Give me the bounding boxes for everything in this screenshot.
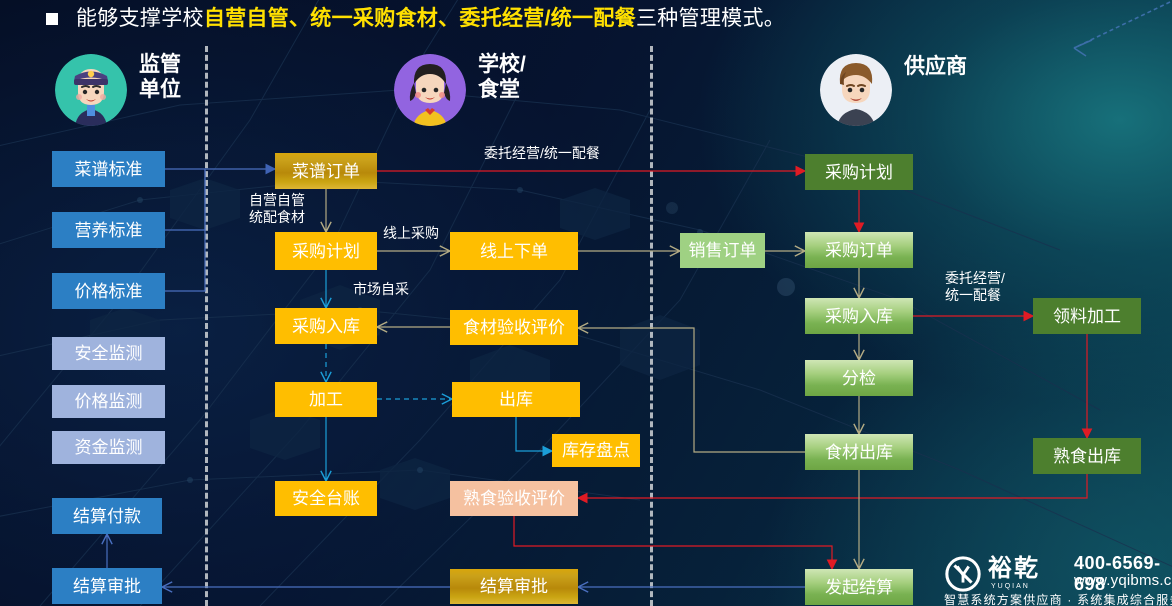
edge-label-xianshang-text: 线上采购: [383, 225, 439, 241]
node-shicai-yanshou[interactable]: 食材验收评价: [450, 310, 578, 345]
node-jiage-biaozhun[interactable]: 价格标准: [52, 273, 165, 309]
header-highlight: 自营自管、统一采购食材、委托经营/统一配餐: [204, 7, 636, 30]
logo-website: www.yqibms.com: [1074, 572, 1172, 590]
header-prefix: 能够支撑学校: [76, 7, 204, 30]
slide-canvas: 能够支撑学校自营自管、统一采购食材、委托经营/统一配餐三种管理模式。 监管: [0, 0, 1172, 606]
actor-supplier-line1: 供应商: [904, 54, 967, 79]
node-lingliao-jiagong[interactable]: 领料加工: [1033, 298, 1141, 334]
edge-label-ziying-line2: 统配食材: [249, 209, 305, 226]
node-caipu-biaozhun[interactable]: 菜谱标准: [52, 151, 165, 187]
edge-label-weituo-top: 委托经营/统一配餐: [484, 145, 600, 162]
node-anquan-taizhang[interactable]: 安全台账: [275, 481, 377, 516]
node-fenjian[interactable]: 分检: [805, 360, 913, 396]
node-caigou-dingdan[interactable]: 采购订单: [805, 232, 913, 268]
node-jiesuan-shenpi-l[interactable]: 结算审批: [52, 568, 162, 604]
node-xiaoshou-dingdan[interactable]: 销售订单: [680, 233, 765, 268]
actor-school-label: 学校/ 食堂: [478, 52, 526, 102]
edge-label-ziying-line1: 自营自管: [249, 192, 305, 209]
actor-supplier-label: 供应商: [904, 54, 967, 79]
square-bullet-icon: [46, 13, 58, 25]
logo-cn-name: 裕乾: [988, 555, 1040, 583]
node-shushi-chuku[interactable]: 熟食出库: [1033, 438, 1141, 474]
header-sentence: 能够支撑学校自营自管、统一采购食材、委托经营/统一配餐三种管理模式。: [76, 4, 785, 34]
logo-tagline: 智慧系统方案供应商 · 系统集成综合服务商: [944, 591, 1172, 606]
actor-regulator-line2: 单位: [139, 77, 181, 102]
edge-label-weituo-right-line1: 委托经营/: [945, 270, 1005, 287]
schoolgirl-avatar: [394, 54, 466, 126]
node-jiagong[interactable]: 加工: [275, 382, 377, 417]
supplier-avatar: [820, 54, 892, 126]
lane-divider-regulator-school: [205, 46, 208, 606]
node-caigou-ruku-r[interactable]: 采购入库: [805, 298, 913, 334]
node-shicai-chuku[interactable]: 食材出库: [805, 434, 913, 470]
node-kucun-pandian[interactable]: 库存盘点: [552, 434, 640, 467]
node-anquan-jiance[interactable]: 安全监测: [52, 337, 165, 370]
edge-label-weituo-top-text: 委托经营/统一配餐: [484, 145, 600, 161]
node-jiesuan-shenpi-m[interactable]: 结算审批: [450, 569, 578, 604]
slide-header: 能够支撑学校自营自管、统一采购食材、委托经营/统一配餐三种管理模式。: [0, 0, 1172, 40]
actor-regulator-line1: 监管: [139, 52, 181, 77]
edge-label-shichang-text: 市场自采: [353, 281, 409, 297]
actor-school-line1: 学校/: [478, 52, 526, 77]
node-caigou-ruku-m[interactable]: 采购入库: [275, 308, 377, 344]
actor-regulator-label: 监管 单位: [139, 52, 181, 102]
node-faqi-jiesuan[interactable]: 发起结算: [805, 569, 913, 605]
lane-divider-school-supplier: [650, 46, 653, 606]
node-caipu-dingdan[interactable]: 菜谱订单: [275, 153, 377, 189]
edge-label-xianshang: 线上采购: [383, 225, 439, 242]
edge-label-weituo-right-line2: 统一配餐: [945, 287, 1005, 304]
node-caigou-jihua-r[interactable]: 采购计划: [805, 154, 913, 190]
node-yingyang-biaozhun[interactable]: 营养标准: [52, 212, 165, 248]
yuqian-logo-mark-icon: [944, 555, 982, 593]
header-suffix: 三种管理模式。: [636, 7, 785, 30]
edge-label-ziying: 自营自管 统配食材: [249, 192, 305, 226]
edge-label-shichang: 市场自采: [353, 281, 409, 298]
logo-pinyin: YUQIAN: [991, 583, 1030, 590]
edge-label-weituo-right: 委托经营/ 统一配餐: [945, 270, 1005, 304]
node-chuku[interactable]: 出库: [452, 382, 580, 417]
node-xianshang-xiadan[interactable]: 线上下单: [450, 232, 578, 270]
node-zijin-jiance[interactable]: 资金监测: [52, 431, 165, 464]
node-jiesuan-fukuan[interactable]: 结算付款: [52, 498, 162, 534]
node-caigou-jihua-m[interactable]: 采购计划: [275, 232, 377, 270]
actor-school-line2: 食堂: [478, 77, 526, 102]
company-logo-block: 裕乾 YUQIAN 400-6569-698 www.yqibms.com 智慧…: [944, 553, 1172, 606]
inspector-avatar: [55, 54, 127, 126]
node-shushi-yanshou[interactable]: 熟食验收评价: [450, 481, 578, 516]
node-jiage-jiance[interactable]: 价格监测: [52, 385, 165, 418]
